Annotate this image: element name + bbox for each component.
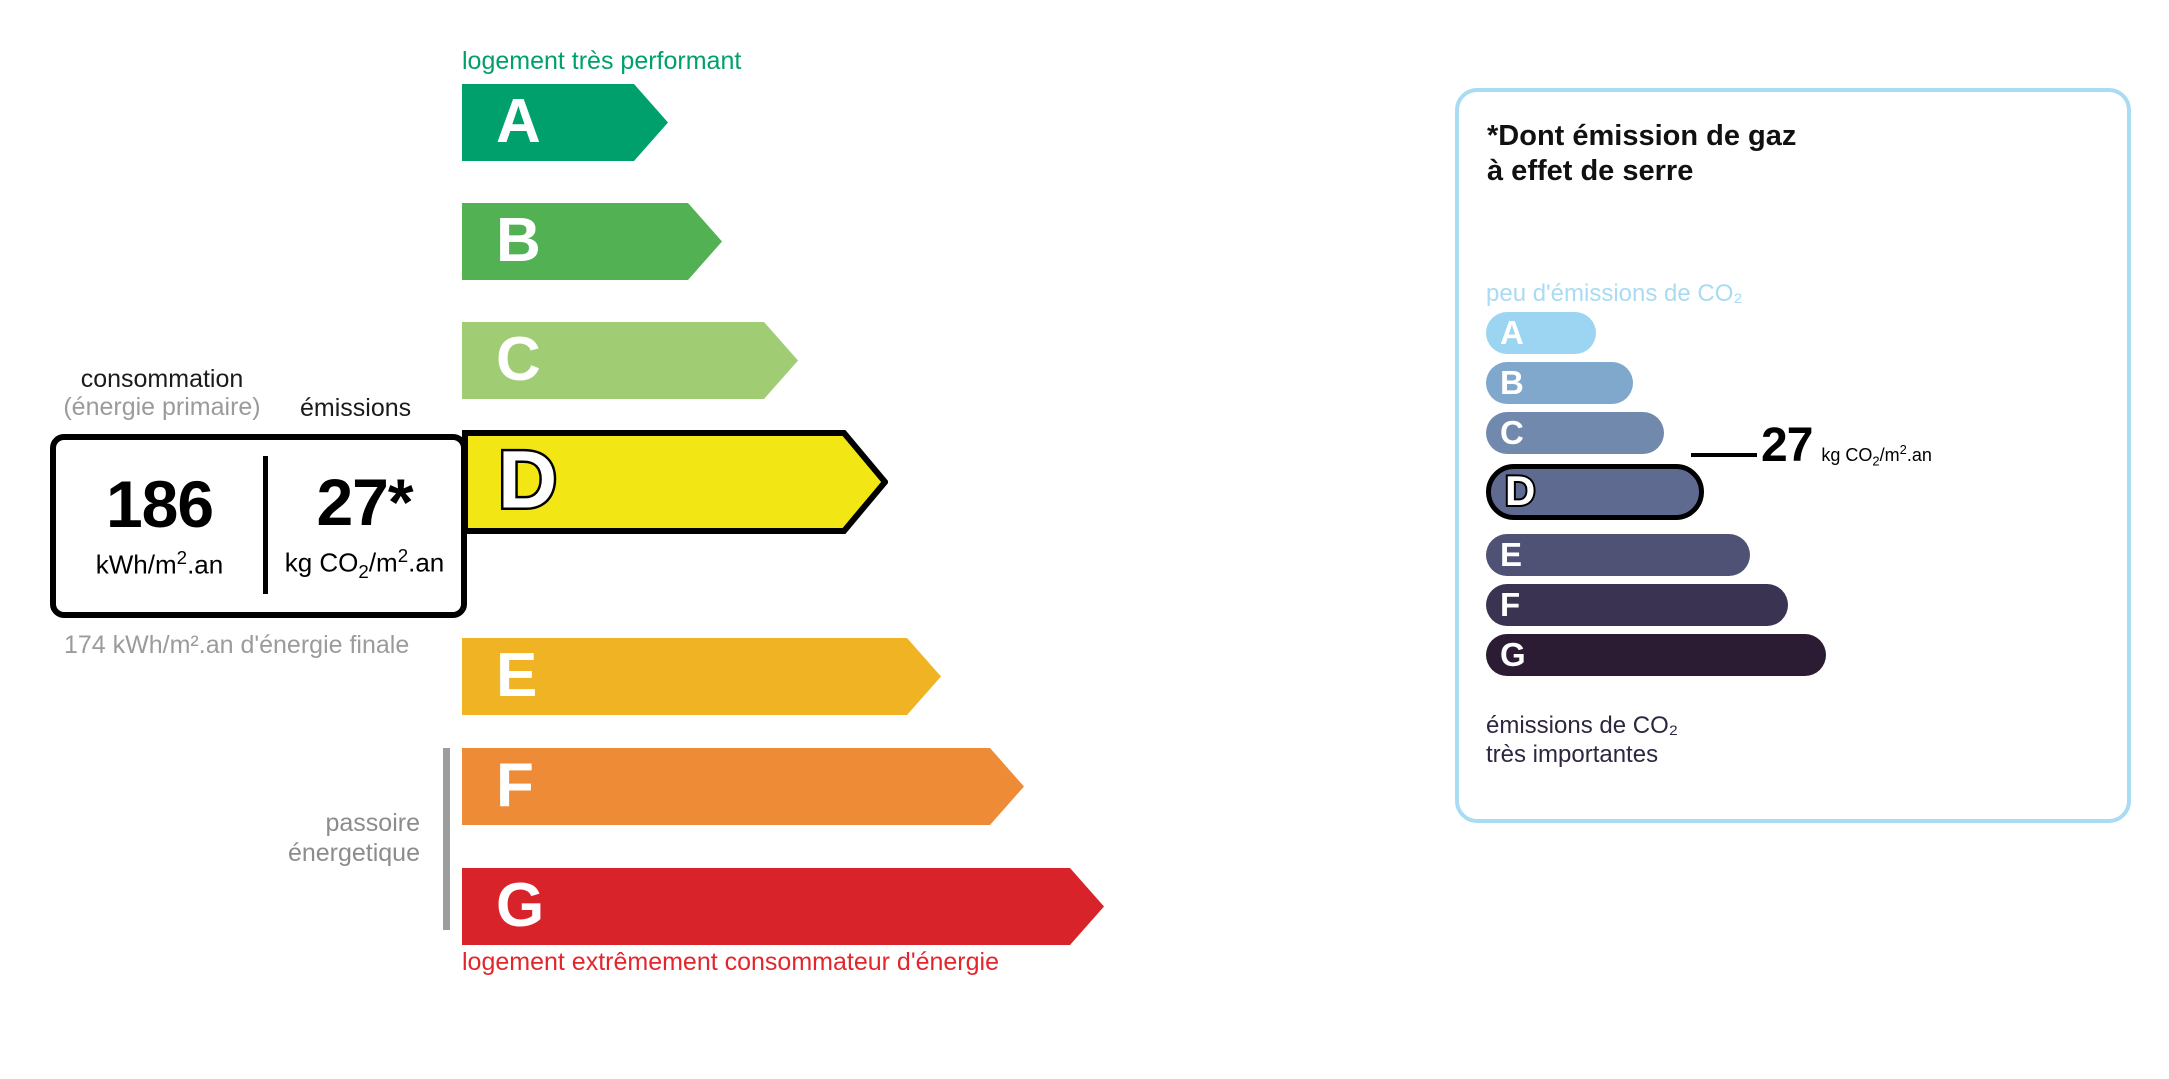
co2-bottom-caption: émissions de CO₂ très importantes (1486, 712, 1678, 770)
energy-class-row-d: D (462, 430, 888, 534)
co2-class-bar-a: A (1486, 312, 1596, 354)
emissions-label: émissions (300, 394, 411, 423)
co2-emission-value: 27* (316, 469, 412, 535)
co2-class-bar-f: F (1486, 584, 1788, 626)
energy-class-row-b: B (462, 203, 722, 280)
co2-class-letter-c: C (1500, 416, 1524, 449)
co2-callout-value: 27 (1761, 422, 1812, 470)
greenhouse-gas-panel: *Dont émission de gaz à effet de serre p… (1455, 88, 2131, 823)
co2-leader-line (1691, 453, 1757, 457)
arrow-shape-a (462, 84, 668, 161)
arrow-shape-f (462, 748, 1024, 825)
primary-energy-cell: 186 kWh/m2.an (56, 440, 263, 612)
energy-class-row-a: A (462, 84, 668, 161)
consumption-label: consommation (énergie primaire) (62, 366, 262, 421)
energy-class-row-c: C (462, 322, 798, 399)
arrow-shape-g (462, 868, 1104, 945)
consumption-label-sub: (énergie primaire) (62, 394, 262, 422)
primary-energy-value: 186 (106, 471, 213, 537)
co2-class-bar-g: G (1486, 634, 1826, 676)
co2-class-bar-d: D (1486, 464, 1704, 520)
co2-class-letter-a: A (1500, 316, 1524, 349)
co2-class-letter-g: G (1500, 638, 1526, 671)
energy-class-row-g: G (462, 868, 1104, 945)
energy-class-row-e: E (462, 638, 941, 715)
scale-top-caption: logement très performant (462, 47, 741, 76)
co2-emission-cell: 27* kg CO2/m2.an (268, 440, 461, 612)
energy-class-letter-g: G (496, 874, 545, 936)
energy-class-letter-b: B (496, 209, 541, 271)
passoire-energetique-label: passoire énergetique (240, 808, 420, 868)
co2-callout-unit: kg CO2/m2.an (1821, 442, 1931, 469)
co2-callout: 27 kg CO2/m2.an (1761, 422, 1932, 470)
energy-class-row-f: F (462, 748, 1024, 825)
energy-class-letter-f: F (496, 754, 534, 816)
energy-class-letter-a: A (496, 90, 541, 152)
co2-class-bar-c: C (1486, 412, 1664, 454)
value-summary-box: 186 kWh/m2.an 27* kg CO2/m2.an (50, 434, 467, 618)
co2-class-bar-b: B (1486, 362, 1633, 404)
co2-class-letter-e: E (1500, 538, 1522, 571)
co2-class-bar-e: E (1486, 534, 1750, 576)
co2-top-caption: peu d'émissions de CO₂ (1486, 280, 1743, 308)
energy-performance-scale: logement très performant ABCDEFG logemen… (0, 0, 1380, 1079)
consumption-label-main: consommation (81, 365, 244, 393)
greenhouse-gas-title: *Dont émission de gaz à effet de serre (1487, 119, 1796, 189)
primary-energy-unit: kWh/m2.an (96, 547, 223, 581)
final-energy-note: 174 kWh/m².an d'énergie finale (64, 630, 409, 661)
co2-class-letter-b: B (1500, 366, 1524, 399)
energy-class-letter-c: C (496, 328, 541, 390)
energy-class-letter-e: E (496, 644, 538, 706)
co2-class-letter-d: D (1505, 470, 1535, 512)
co2-class-letter-f: F (1500, 588, 1520, 621)
co2-emission-unit: kg CO2/m2.an (285, 545, 445, 583)
energy-class-letter-d: D (498, 439, 558, 521)
scale-bottom-caption: logement extrêmement consommateur d'éner… (462, 948, 999, 977)
passoire-bracket (443, 748, 450, 930)
